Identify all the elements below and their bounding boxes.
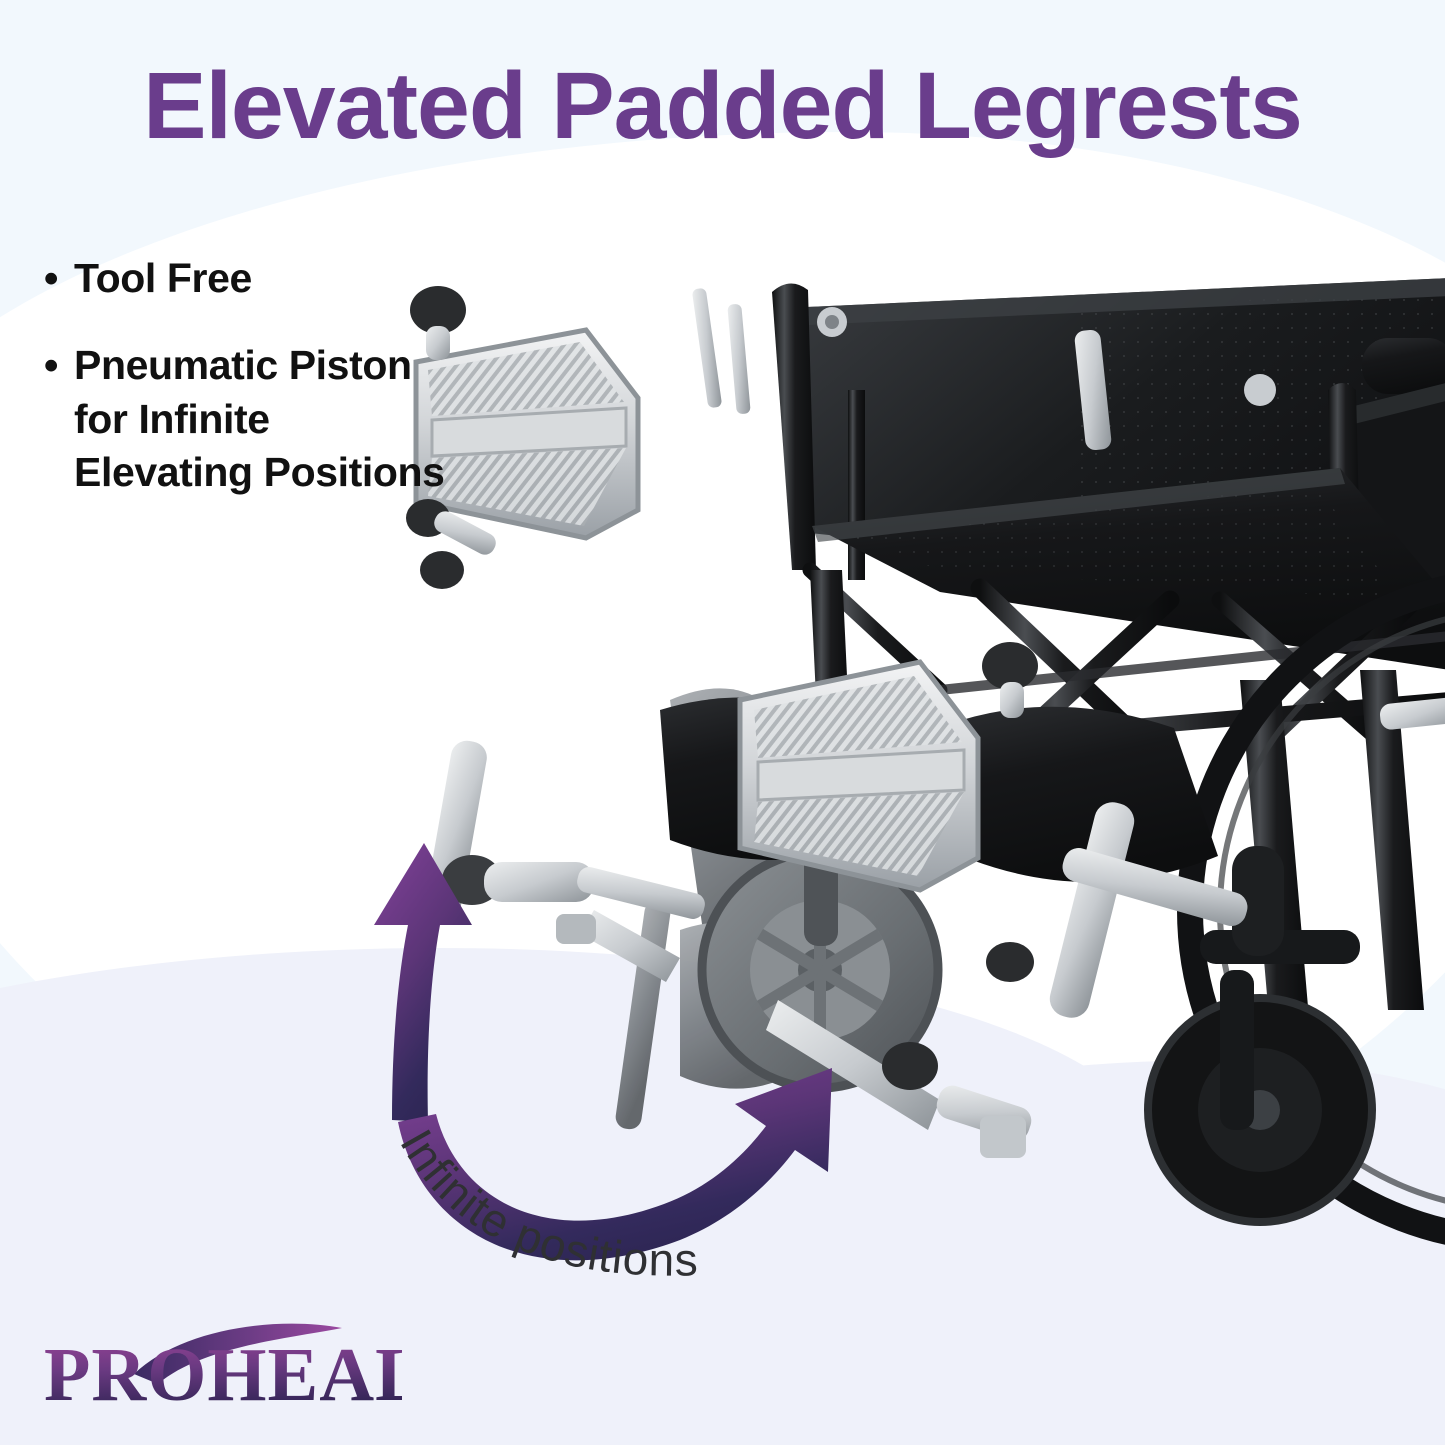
feature-list: • Tool Free • Pneumatic Piston for Infin… bbox=[44, 252, 604, 533]
armrest-pad bbox=[1362, 338, 1445, 394]
infographic-canvas: Infinite positions Elevated Padded Legre… bbox=[0, 0, 1445, 1445]
logo-wordmark: PROHEAL bbox=[44, 1333, 402, 1417]
feature-item-1: • Tool Free bbox=[44, 252, 604, 305]
feature-item-2-label: Pneumatic Piston for Infinite Elevating … bbox=[74, 339, 604, 499]
feature-item-2: • Pneumatic Piston for Infinite Elevatin… bbox=[44, 339, 604, 499]
bullet-dot-icon: • bbox=[44, 252, 74, 305]
page-title: Elevated Padded Legrests bbox=[0, 56, 1445, 157]
bullet-dot-icon: • bbox=[44, 339, 74, 392]
chrome-footplate-right bbox=[740, 662, 978, 890]
feature-item-1-label: Tool Free bbox=[74, 252, 604, 305]
proheal-logo: PROHEAL bbox=[42, 1322, 402, 1432]
